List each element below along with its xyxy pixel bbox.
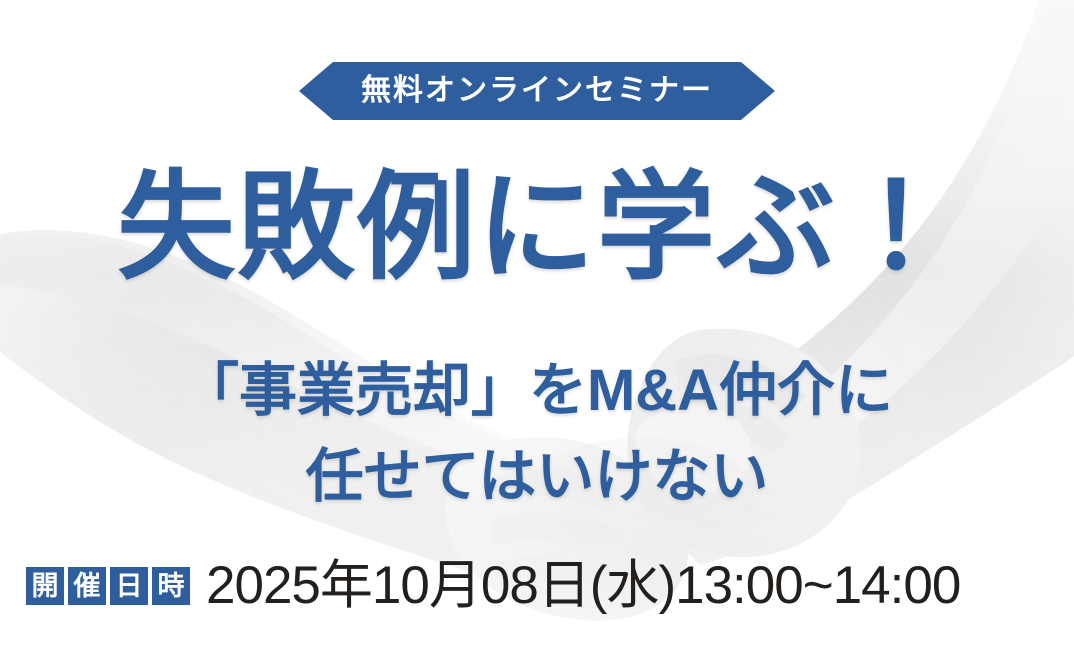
headline-main: 失敗例に学ぶ！: [0, 168, 1074, 288]
headline-block: 失敗例に学ぶ！: [0, 168, 1074, 288]
event-label-char-3: 日: [110, 567, 148, 605]
event-datetime-row: 開 催 日 時 2025年10月08日(水)13:00~14:00: [26, 559, 1066, 612]
ribbon-shape: 無料オンラインセミナー: [299, 62, 775, 120]
seminar-banner: 無料オンラインセミナー 失敗例に学ぶ！ 「事業売却」をM&A仲介に 任せてはいけ…: [0, 0, 1074, 667]
headline-sub-block: 「事業売却」をM&A仲介に 任せてはいけない: [0, 348, 1074, 520]
ribbon-banner: 無料オンラインセミナー: [0, 62, 1074, 120]
event-label-boxes: 開 催 日 時: [26, 567, 190, 605]
event-datetime-value: 2025年10月08日(水)13:00~14:00: [206, 559, 1066, 612]
event-label-char-4: 時: [152, 567, 190, 605]
headline-sub-line-2: 任せてはいけない: [0, 434, 1074, 520]
event-label-char-1: 開: [26, 567, 64, 605]
event-label-char-2: 催: [68, 567, 106, 605]
headline-sub-line-1: 「事業売却」をM&A仲介に: [0, 348, 1074, 434]
ribbon-label: 無料オンラインセミナー: [361, 76, 713, 106]
